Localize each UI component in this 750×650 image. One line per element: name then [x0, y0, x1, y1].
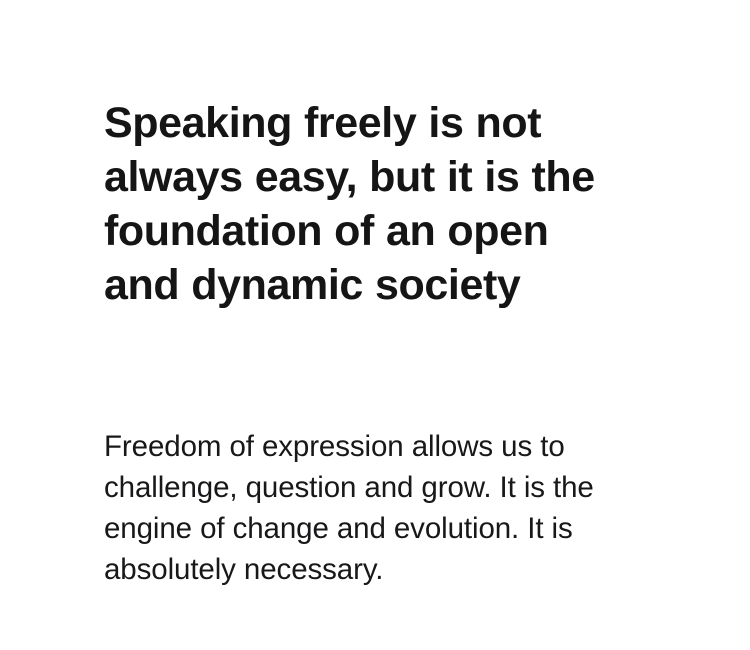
body-paragraph: Freedom of expression allows us to chall…: [104, 312, 640, 590]
document-page: Speaking freely is not always easy, but …: [0, 0, 750, 650]
text-content-block: Speaking freely is not always easy, but …: [104, 96, 634, 590]
page-headline: Speaking freely is not always easy, but …: [104, 96, 634, 312]
